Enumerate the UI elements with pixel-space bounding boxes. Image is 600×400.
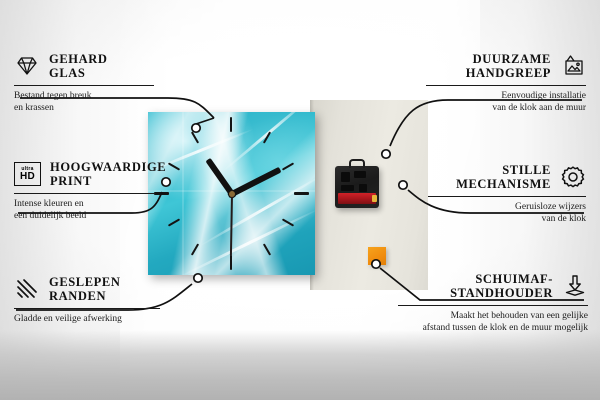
feature-stille-mechanisme: STILLE MECHANISME Geruisloze wijzers van… xyxy=(428,163,586,225)
movement-slot xyxy=(341,172,350,182)
background-floor xyxy=(0,330,600,400)
clock-tick-12 xyxy=(230,117,232,132)
infographic-stage: GEHARD GLAS Bestand tegen breuk en krass… xyxy=(0,0,600,400)
battery-terminal xyxy=(372,195,377,202)
ultra-hd-icon-main: HD xyxy=(20,172,35,182)
feature-title: HOOGWAARDIGE PRINT xyxy=(50,160,166,188)
diagonal-lines-icon xyxy=(14,276,40,302)
movement-hanger-icon xyxy=(349,159,365,168)
foam-spacer xyxy=(368,247,386,265)
feature-header: ultra HD HOOGWAARDIGE PRINT xyxy=(14,160,156,188)
clock-movement xyxy=(335,166,379,208)
feature-description: Geruisloze wijzers van de klok xyxy=(428,201,586,225)
movement-slot xyxy=(359,184,367,192)
feature-rule xyxy=(14,193,156,194)
feature-title: STILLE MECHANISME xyxy=(456,163,551,191)
feature-rule xyxy=(428,196,586,197)
ultra-hd-icon: ultra HD xyxy=(14,162,41,186)
gear-icon xyxy=(560,164,586,190)
feature-title: GEHARD GLAS xyxy=(49,52,107,80)
feature-description: Bestand tegen breuk en krassen xyxy=(14,90,154,114)
feature-gehard-glas: GEHARD GLAS Bestand tegen breuk en krass… xyxy=(14,52,154,114)
feature-rule xyxy=(14,85,154,86)
battery xyxy=(338,193,376,204)
feature-header: SCHUIMAF- STANDHOUDER xyxy=(398,272,588,300)
movement-slot xyxy=(341,185,354,191)
feature-header: GEHARD GLAS xyxy=(14,52,154,80)
feature-header: GESLEPEN RANDEN xyxy=(14,275,160,303)
feature-rule xyxy=(14,308,160,309)
clock-center-cap xyxy=(229,191,235,197)
feature-title: SCHUIMAF- STANDHOUDER xyxy=(450,272,553,300)
feature-rule xyxy=(398,305,588,306)
clock-grid-line xyxy=(182,112,184,275)
feature-header: DUURZAME HANDGREEP xyxy=(426,52,586,80)
feature-rule xyxy=(426,85,586,86)
feature-duurzame-handgreep: DUURZAME HANDGREEP Eenvoudige installati… xyxy=(426,52,586,114)
feature-geslepen-randen: GESLEPEN RANDEN Gladde en veilige afwerk… xyxy=(14,275,160,325)
diamond-icon xyxy=(14,53,40,79)
wall-clock xyxy=(148,112,315,275)
feature-title: DUURZAME HANDGREEP xyxy=(466,52,551,80)
clock-tick-9 xyxy=(154,192,169,195)
feature-description: Maakt het behouden van een gelijke afsta… xyxy=(398,310,588,334)
clock-tick-3 xyxy=(294,192,309,195)
feature-hoogwaardige-print: ultra HD HOOGWAARDIGE PRINT Intense kleu… xyxy=(14,160,156,222)
picture-frame-icon xyxy=(560,53,586,79)
feature-title: GESLEPEN RANDEN xyxy=(49,275,121,303)
movement-slot xyxy=(354,171,366,178)
feature-description: Gladde en veilige afwerking xyxy=(14,313,160,325)
feature-description: Eenvoudige installatie van de klok aan d… xyxy=(426,90,586,114)
clock-second-hand xyxy=(229,189,232,255)
stamp-down-arrow-icon xyxy=(562,273,588,299)
feature-schuimafstandhouder: SCHUIMAF- STANDHOUDER Maakt het behouden… xyxy=(398,272,588,334)
feature-description: Intense kleuren en een duidelijk beeld xyxy=(14,198,156,222)
product-photo xyxy=(120,92,440,292)
clock-tick-6 xyxy=(230,255,232,270)
feature-header: STILLE MECHANISME xyxy=(428,163,586,191)
